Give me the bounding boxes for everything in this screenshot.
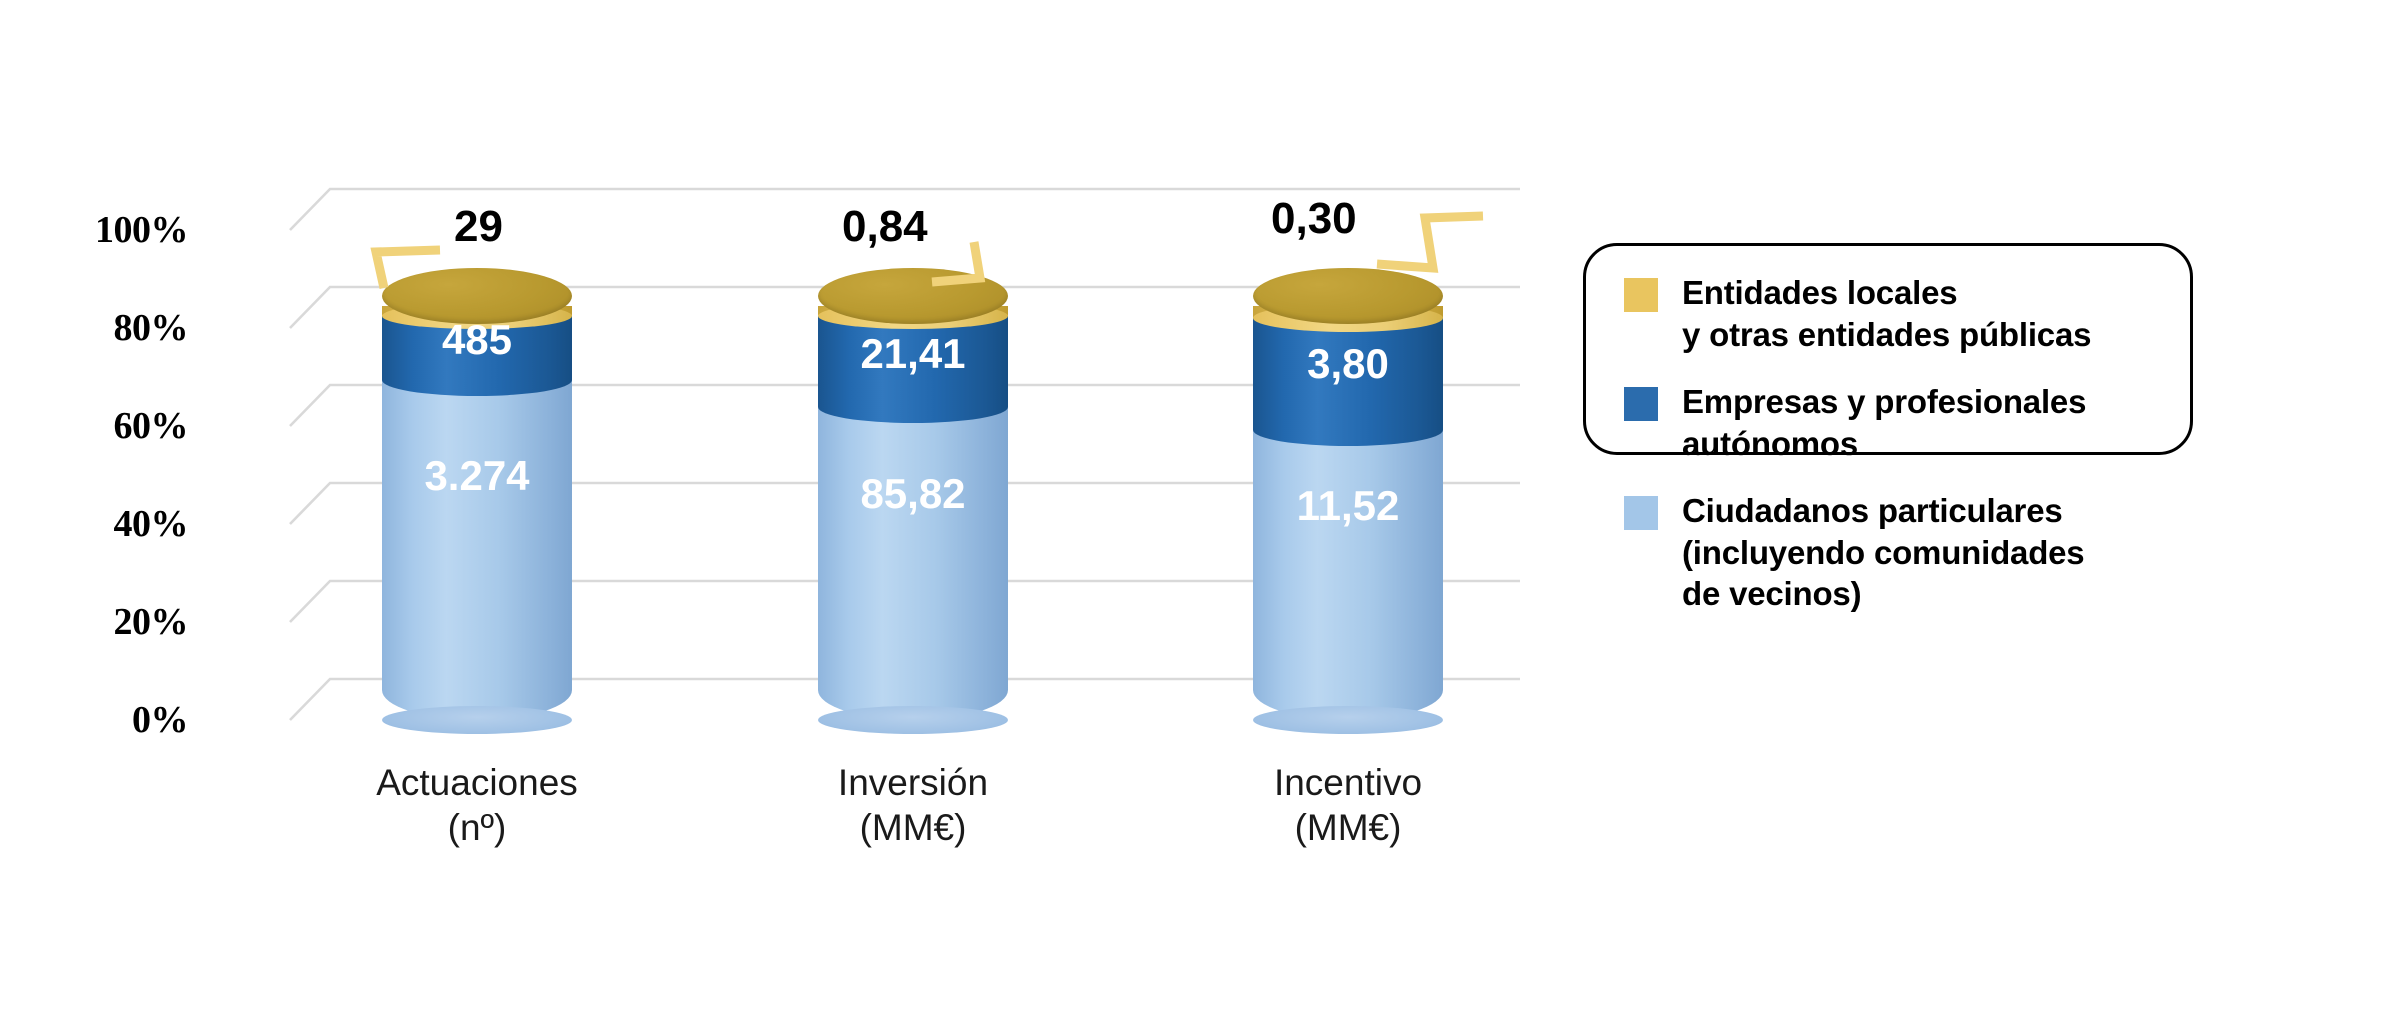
category-label-3: Incentivo (MM€) xyxy=(1193,760,1503,850)
legend-item-empresas[interactable]: Empresas y profesionales autónomos xyxy=(1586,381,2190,464)
category-line2-3: (MM€) xyxy=(1193,805,1503,850)
bar-base-value-1: 3.274 xyxy=(382,452,572,720)
bar-base-value-2: 85,82 xyxy=(818,470,1008,720)
bar-base-value-3: 11,52 xyxy=(1253,482,1443,720)
bar-top-value-3: 0,30 xyxy=(1271,194,1357,244)
leader-line-2 xyxy=(926,226,1046,296)
legend-item-entidades[interactable]: Entidades locales y otras entidades públ… xyxy=(1586,272,2190,355)
chart-canvas: 100% 80% 60% 40% 20% 0% xyxy=(0,0,2381,1030)
y-tick-20: 20% xyxy=(28,603,188,641)
category-label-2: Inversión (MM€) xyxy=(758,760,1068,850)
legend-label-entidades: Entidades locales y otras entidades públ… xyxy=(1682,272,2091,355)
legend-swatch-empresas xyxy=(1624,387,1658,421)
y-tick-0: 0% xyxy=(28,701,188,739)
legend-item-ciudadanos[interactable]: Ciudadanos particulares (incluyendo comu… xyxy=(1586,490,2190,615)
bar-actuaciones[interactable]: 29 485 3.274 Actuaciones (nº) xyxy=(382,220,572,720)
y-tick-100: 100% xyxy=(28,211,188,249)
category-line1-3: Incentivo xyxy=(1193,760,1503,805)
legend-label-ciudadanos: Ciudadanos particulares (incluyendo comu… xyxy=(1682,490,2084,615)
bar-top-value-2: 0,84 xyxy=(842,202,928,252)
y-tick-80: 80% xyxy=(28,309,188,347)
y-tick-60: 60% xyxy=(28,407,188,445)
legend: Entidades locales y otras entidades públ… xyxy=(1583,243,2193,455)
bar-top-value-1: 29 xyxy=(454,202,503,252)
bar-inversion[interactable]: 0,84 21,41 85,82 Inversión (MM€) xyxy=(818,220,1008,720)
y-axis: 100% 80% 60% 40% 20% 0% xyxy=(28,0,188,820)
legend-label-empresas: Empresas y profesionales autónomos xyxy=(1682,381,2086,464)
legend-swatch-entidades xyxy=(1624,278,1658,312)
category-line2-2: (MM€) xyxy=(758,805,1068,850)
category-line1-1: Actuaciones xyxy=(322,760,632,805)
legend-swatch-ciudadanos xyxy=(1624,496,1658,530)
leader-line-3 xyxy=(1373,212,1503,292)
category-line2-1: (nº) xyxy=(322,805,632,850)
plot-area: 100% 80% 60% 40% 20% 0% xyxy=(0,0,1520,820)
category-label-1: Actuaciones (nº) xyxy=(322,760,632,850)
y-tick-40: 40% xyxy=(28,505,188,543)
category-line1-2: Inversión xyxy=(758,760,1068,805)
bar-incentivo[interactable]: 0,30 3,80 11,52 Incentivo (MM€) xyxy=(1253,220,1443,720)
